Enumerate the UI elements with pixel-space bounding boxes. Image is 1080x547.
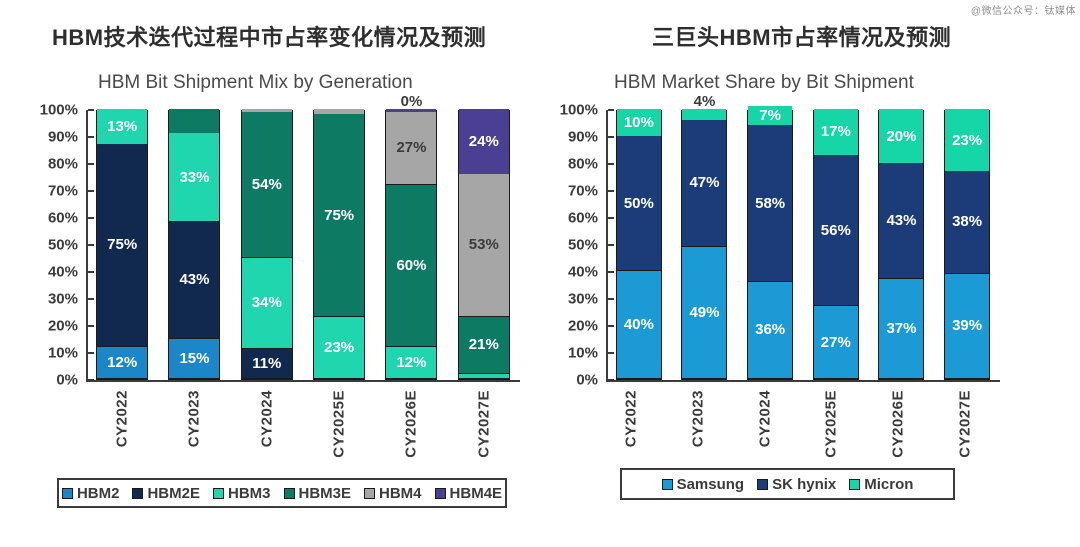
y-axis-tick-label: 0% [56, 372, 78, 389]
legend-item[interactable]: HBM4 [364, 485, 422, 502]
bar-segment[interactable]: 24% [459, 109, 509, 174]
x-axis-tick-label: CY2025E [331, 390, 348, 458]
legend-label: HBM4 [379, 485, 422, 502]
plot-area-right: 100%90%80%70%60%50%40%30%20%10%0%40%50%1… [560, 110, 1000, 380]
bar-column[interactable]: 39%38%23% [934, 110, 1000, 380]
bar-column[interactable]: 12%60%27%0% [375, 110, 447, 380]
x-axis-tick-label: CY2027E [475, 390, 492, 458]
bar-segment-label: 75% [107, 237, 137, 252]
bar-segment-label: 27% [821, 335, 851, 350]
x-axis-line [606, 380, 1000, 382]
y-axis-tick-label: 100% [40, 102, 78, 119]
bar-segment-label: 0% [401, 94, 423, 109]
stacked-bar[interactable]: 40%50%10% [616, 110, 662, 380]
bar-segment-label: 58% [755, 196, 785, 211]
bar-segment-label: 33% [179, 170, 209, 185]
stacked-bar[interactable]: 36%58%7% [747, 110, 793, 380]
bar-segment[interactable]: 53% [459, 174, 509, 317]
y-axis-tick-label: 40% [48, 264, 78, 281]
bar-segment[interactable]: 60% [386, 185, 436, 347]
bar-column[interactable]: 11%34%54% [231, 110, 303, 380]
legend-color-swatch [435, 488, 446, 499]
x-axis-tick-label: CY2022 [114, 390, 131, 447]
y-axis-tick-label: 20% [48, 318, 78, 335]
y-axis-tick-label: 10% [48, 345, 78, 362]
y-axis-tick-label: 30% [568, 291, 598, 308]
bar-segment[interactable]: 49% [682, 247, 726, 379]
bar-segment-label: 24% [469, 134, 499, 149]
stacked-bar[interactable]: 39%38%23% [944, 110, 990, 380]
legend-item[interactable]: Micron [849, 476, 913, 493]
bar-segment[interactable]: 50% [617, 136, 661, 271]
x-axis-tick-label: CY2022 [623, 390, 640, 447]
y-axis-tick-label: 70% [568, 183, 598, 200]
y-axis-tick-label: 20% [568, 318, 598, 335]
bars-container: 12%75%13%15%43%33%11%34%54%23%75%12%60%2… [86, 110, 520, 380]
legend-label: HBM4E [450, 485, 503, 502]
y-axis-tick-label: 100% [560, 102, 598, 119]
bar-segment[interactable]: 54% [242, 112, 292, 258]
x-axis-tick-label: CY2023 [689, 390, 706, 447]
bar-segment-label: 60% [396, 258, 426, 273]
bar-segment-label: 50% [624, 196, 654, 211]
plot-area-left: 100%90%80%70%60%50%40%30%20%10%0%12%75%1… [40, 110, 520, 380]
legend-item[interactable]: HBM3E [284, 485, 352, 502]
x-axis-tick-label: CY2024 [258, 390, 275, 447]
bar-segment-label: 10% [624, 115, 654, 130]
bar-segment-label: 47% [689, 175, 719, 190]
panel-hbm-generation-mix: HBM技术迭代过程中市占率变化情况及预测 HBM Bit Shipment Mi… [0, 0, 560, 547]
stacked-bar[interactable]: 21%53%24% [458, 110, 510, 380]
legend-color-swatch [849, 479, 860, 490]
bar-segment[interactable]: 17% [814, 109, 858, 155]
y-axis-tick-label: 0% [576, 372, 598, 389]
legend-item[interactable]: HBM2 [62, 485, 120, 502]
bar-segment[interactable]: 34% [242, 258, 292, 350]
bar-segment-label: 49% [689, 305, 719, 320]
bar-segment-label: 53% [469, 237, 499, 252]
bar-column[interactable]: 15%43%33% [158, 110, 230, 380]
bar-column[interactable]: 36%58%7% [737, 110, 803, 380]
bar-segment[interactable]: 7% [748, 106, 792, 125]
bar-column[interactable]: 12%75%13% [86, 110, 158, 380]
chart-panels: HBM技术迭代过程中市占率变化情况及预测 HBM Bit Shipment Mi… [0, 0, 1080, 547]
legend-item[interactable]: HBM4E [435, 485, 503, 502]
bar-segment-label: 11% [252, 356, 281, 371]
bar-segment-label: 40% [624, 317, 654, 332]
bar-segment[interactable] [459, 374, 509, 379]
panel-left-english-title: HBM Bit Shipment Mix by Generation [98, 72, 413, 94]
y-axis-tick-label: 90% [568, 129, 598, 146]
bar-segment[interactable]: 37% [879, 279, 923, 379]
legend-item[interactable]: Samsung [662, 476, 745, 493]
bar-segment[interactable]: 23% [314, 317, 364, 379]
bar-segment-label: 23% [952, 133, 982, 148]
bar-segment-label: 75% [324, 208, 354, 223]
bar-segment[interactable]: 12% [386, 347, 436, 379]
y-axis-tick-label: 90% [48, 129, 78, 146]
bar-segment-label: 34% [252, 295, 282, 310]
legend-item[interactable]: HBM2E [132, 485, 200, 502]
legend-color-swatch [62, 488, 73, 499]
legend-color-swatch [132, 488, 143, 499]
x-axis-tick-label: CY2027E [956, 390, 973, 458]
bar-column[interactable]: 37%43%20% [869, 110, 935, 380]
bar-segment-label: 21% [469, 337, 499, 352]
bar-segment[interactable]: 39% [945, 274, 989, 379]
bar-column[interactable]: 40%50%10% [606, 110, 672, 380]
bar-column[interactable]: 23%75% [303, 110, 375, 380]
bar-segment[interactable]: 27% [386, 112, 436, 185]
bar-segment-label: 4% [694, 94, 716, 109]
bar-segment[interactable]: 12% [97, 347, 147, 379]
bar-column[interactable]: 27%56%17% [803, 110, 869, 380]
bar-segment[interactable]: 23% [945, 109, 989, 171]
stacked-bar[interactable]: 37%43%20% [878, 110, 924, 380]
x-axis-tick-label: CY2026E [889, 390, 906, 458]
x-axis-tick-label: CY2026E [403, 390, 420, 458]
bar-segment-label: 12% [107, 355, 137, 370]
y-axis-tick-label: 50% [568, 237, 598, 254]
bar-segment[interactable]: 56% [814, 155, 858, 306]
bar-segment[interactable]: 58% [748, 125, 792, 282]
stacked-bar[interactable]: 12%60%27%0% [385, 110, 437, 380]
y-axis-tick-label: 10% [568, 345, 598, 362]
x-axis-tick-label: CY2025E [823, 390, 840, 458]
bar-segment[interactable] [169, 109, 219, 133]
stacked-bar[interactable]: 11%34%54% [241, 110, 293, 380]
y-axis-tick-label: 80% [48, 156, 78, 173]
x-axis-tick-label: CY2023 [186, 390, 203, 447]
y-axis-tick-label: 70% [48, 183, 78, 200]
x-axis-line [86, 380, 520, 382]
bars-container: 40%50%10%49%47%4%36%58%7%27%56%17%37%43%… [606, 110, 1000, 380]
bar-segment-label: 23% [324, 340, 354, 355]
legend-label: SK hynix [772, 476, 836, 493]
stacked-bar[interactable]: 15%43%33% [168, 110, 220, 380]
bar-segment[interactable]: 13% [97, 109, 147, 144]
x-axis-tick-label: CY2024 [756, 390, 773, 447]
bar-segment-label: 7% [759, 108, 781, 123]
bar-segment[interactable]: 10% [617, 109, 661, 136]
bar-segment-label: 15% [179, 351, 209, 366]
legend-color-swatch [284, 488, 295, 499]
y-axis-tick-label: 50% [48, 237, 78, 254]
legend-label: HBM3E [299, 485, 352, 502]
legend-color-swatch [364, 488, 375, 499]
y-axis-tick-label: 40% [568, 264, 598, 281]
bar-segment-label: 43% [886, 213, 916, 228]
bar-segment-label: 54% [252, 177, 282, 192]
bar-segment[interactable]: 36% [748, 282, 792, 379]
bar-segment[interactable]: 75% [97, 144, 147, 347]
bar-segment[interactable]: 38% [945, 171, 989, 274]
bar-segment-label: 37% [886, 321, 916, 336]
legend-color-swatch [757, 479, 768, 490]
stacked-bar[interactable]: 12%75%13% [96, 110, 148, 380]
bar-segment-label: 36% [755, 322, 785, 337]
bar-segment-label: 13% [107, 119, 137, 134]
y-axis-tick-label: 60% [48, 210, 78, 227]
bar-segment-label: 27% [396, 140, 426, 155]
legend-label: HBM2 [77, 485, 120, 502]
legend-label: HBM3 [228, 485, 271, 502]
panel-right-chinese-title: 三巨头HBM市占率情况及预测 [652, 20, 951, 52]
bar-segment[interactable]: 11% [242, 349, 292, 379]
legend-color-swatch [662, 479, 673, 490]
legend-label: Micron [864, 476, 913, 493]
legend-label: HBM2E [147, 485, 200, 502]
bar-segment-label: 12% [396, 355, 426, 370]
legend-left: HBM2HBM2EHBM3HBM3EHBM4HBM4E [57, 478, 507, 508]
panel-left-chinese-title: HBM技术迭代过程中市占率变化情况及预测 [52, 20, 486, 52]
bar-segment-label: 20% [886, 129, 916, 144]
bar-segment[interactable]: 33% [169, 133, 219, 222]
legend-right: SamsungSK hynixMicron [620, 468, 955, 500]
panel-hbm-market-share: 三巨头HBM市占率情况及预测 HBM Market Share by Bit S… [560, 0, 1080, 547]
legend-item[interactable]: SK hynix [757, 476, 836, 493]
bar-segment[interactable]: 21% [459, 317, 509, 374]
stacked-bar[interactable]: 49%47%4% [681, 110, 727, 380]
bar-segment-label: 56% [821, 223, 851, 238]
y-axis-tick-label: 80% [568, 156, 598, 173]
bar-segment[interactable]: 15% [169, 339, 219, 380]
legend-item[interactable]: HBM3 [213, 485, 271, 502]
bar-segment[interactable]: 43% [169, 222, 219, 338]
panel-right-english-title: HBM Market Share by Bit Shipment [614, 72, 914, 94]
bar-segment[interactable] [682, 109, 726, 120]
bar-column[interactable]: 49%47%4% [672, 110, 738, 380]
bar-segment[interactable]: 75% [314, 114, 364, 317]
bar-segment[interactable]: 43% [879, 163, 923, 279]
bar-segment[interactable]: 27% [814, 306, 858, 379]
bar-segment[interactable]: 40% [617, 271, 661, 379]
y-axis-tick-label: 60% [568, 210, 598, 227]
bar-segment[interactable] [242, 109, 292, 112]
bar-segment[interactable] [386, 109, 436, 112]
bar-segment-label: 38% [952, 214, 982, 229]
bar-segment[interactable] [314, 109, 364, 114]
stacked-bar[interactable]: 27%56%17% [813, 110, 859, 380]
y-axis-tick-label: 30% [48, 291, 78, 308]
bar-segment-label: 17% [821, 124, 851, 139]
bar-segment[interactable]: 20% [879, 109, 923, 163]
legend-label: Samsung [677, 476, 745, 493]
bar-segment[interactable]: 47% [682, 120, 726, 247]
legend-color-swatch [213, 488, 224, 499]
stacked-bar[interactable]: 23%75% [313, 110, 365, 380]
bar-segment-label: 43% [179, 272, 209, 287]
bar-column[interactable]: 21%53%24% [448, 110, 520, 380]
bar-segment-label: 39% [952, 318, 982, 333]
